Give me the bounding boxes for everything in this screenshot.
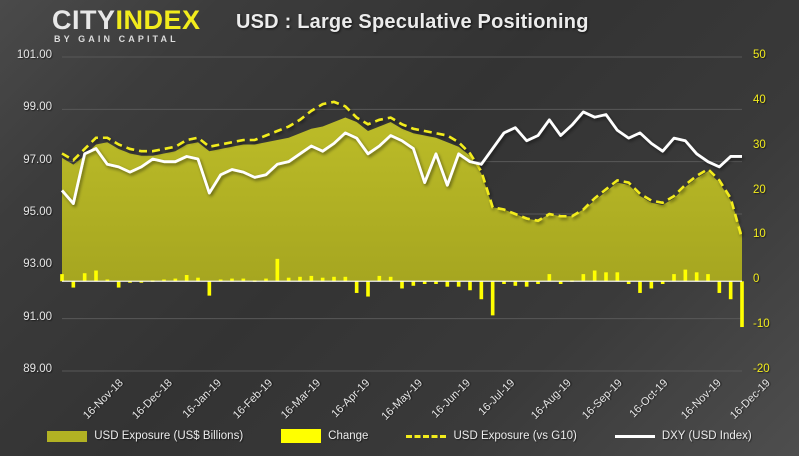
change-bar	[718, 281, 722, 293]
change-bar	[582, 274, 586, 281]
right-axis-tick: -20	[753, 363, 793, 375]
change-bar	[672, 274, 676, 281]
change-bar	[706, 274, 710, 281]
change-bar	[208, 281, 212, 295]
change-bar	[83, 273, 87, 281]
change-bar	[616, 272, 620, 281]
left-axis-tick: 97.00	[0, 154, 52, 166]
change-bar	[604, 272, 608, 281]
change-bar	[400, 281, 404, 288]
left-axis-tick: 93.00	[0, 258, 52, 270]
change-bar	[650, 281, 654, 288]
change-bar	[185, 275, 189, 281]
change-bar	[695, 272, 699, 281]
change-bar	[60, 274, 64, 281]
legend-label: USD Exposure (US$ Billions)	[94, 430, 243, 442]
change-bar	[740, 281, 744, 327]
change-bar	[457, 281, 461, 286]
change-bar	[468, 281, 472, 290]
bar-swatch-icon	[281, 429, 321, 443]
legend-item[interactable]: USD Exposure (US$ Billions)	[47, 430, 243, 442]
legend-item[interactable]: DXY (USD Index)	[615, 430, 752, 442]
chart-root: CITYINDEX BY GAIN CAPITAL USD : Large Sp…	[0, 0, 799, 456]
chart-legend: USD Exposure (US$ Billions)ChangeUSD Exp…	[0, 429, 799, 443]
change-bar	[638, 281, 642, 293]
left-axis-tick: 99.00	[0, 101, 52, 113]
legend-label: USD Exposure (vs G10)	[453, 430, 576, 442]
change-bar	[389, 277, 393, 281]
change-bar	[332, 277, 336, 281]
right-axis-tick: 50	[753, 49, 793, 61]
right-axis-tick: 20	[753, 184, 793, 196]
change-bar	[684, 270, 688, 282]
dashed-line-icon	[406, 435, 446, 438]
change-bar	[117, 281, 121, 287]
legend-label: DXY (USD Index)	[662, 430, 752, 442]
change-bar	[480, 281, 484, 299]
right-axis-tick: -10	[753, 318, 793, 330]
change-bar	[94, 271, 98, 282]
change-bar	[355, 281, 359, 293]
change-bar	[514, 281, 518, 285]
change-bar	[412, 281, 416, 285]
right-axis-tick: 30	[753, 139, 793, 151]
change-bar	[366, 281, 370, 296]
change-bar	[446, 281, 450, 286]
change-bar	[729, 281, 733, 299]
right-axis-tick: 10	[753, 228, 793, 240]
change-bar	[525, 281, 529, 286]
right-axis-tick: 0	[753, 273, 793, 285]
change-bar	[276, 259, 280, 281]
solid-line-icon	[615, 435, 655, 438]
left-axis-tick: 89.00	[0, 363, 52, 375]
change-bar	[344, 277, 348, 281]
area-swatch-icon	[47, 431, 87, 442]
legend-label: Change	[328, 430, 368, 442]
change-bar	[593, 271, 597, 282]
change-bar	[548, 274, 552, 281]
change-bar	[310, 276, 314, 281]
change-bar	[298, 277, 302, 281]
left-axis-tick: 91.00	[0, 311, 52, 323]
left-axis-tick: 101.00	[0, 49, 52, 61]
legend-item[interactable]: USD Exposure (vs G10)	[406, 430, 576, 442]
change-bar	[491, 281, 495, 315]
legend-item[interactable]: Change	[281, 429, 368, 443]
left-axis-tick: 95.00	[0, 206, 52, 218]
change-bar	[72, 281, 76, 287]
right-axis-tick: 40	[753, 94, 793, 106]
change-bar	[378, 276, 382, 281]
